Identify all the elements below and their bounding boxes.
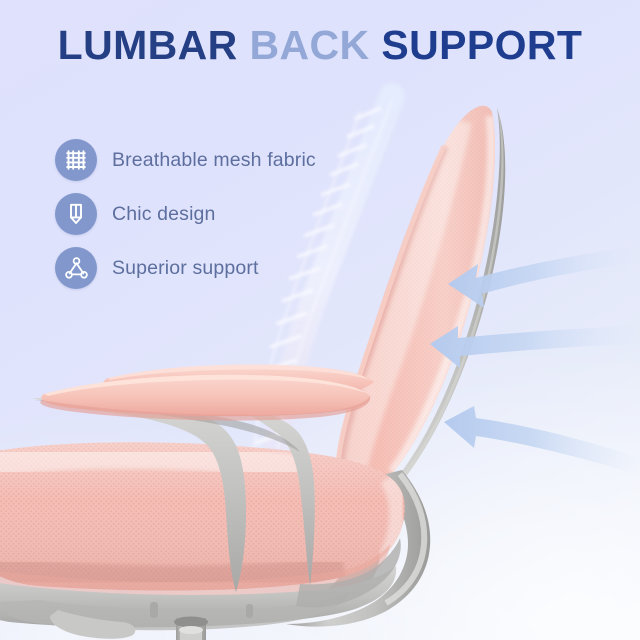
arrow-middle [430,326,640,368]
feature-label: Breathable mesh fabric [112,149,316,172]
feature-item-breathable-mesh-fabric: Breathable mesh fabric [55,133,355,187]
pressure-support-arrows [430,240,640,490]
title-segment-support: SUPPORT [381,22,582,68]
pencil-icon [55,193,97,235]
title-segment-back: BACK [250,22,370,68]
feature-item-superior-support: Superior support [55,241,355,295]
office-chair-illustration [0,0,640,640]
seat-cushion [0,430,430,610]
page-title: LUMBAR BACK SUPPORT [0,22,640,69]
title-segment-lumbar: LUMBAR [58,22,238,68]
backrest-frame [352,108,505,506]
seat-mechanism [0,538,401,639]
arrow-bottom [444,406,640,474]
backrest-support-post [246,470,430,627]
armrest-pad [40,365,374,421]
feature-item-chic-design: Chic design [55,187,355,241]
feature-list: Breathable mesh fabric Chic design [55,133,355,295]
product-feature-banner: LUMBAR BACK SUPPORT Breathable mesh fabr… [0,0,640,640]
mesh-grid-icon [55,139,97,181]
arrow-top [448,246,640,308]
background-sheen [0,0,640,640]
armrest-support [32,398,315,592]
triangle-nodes-icon [55,247,97,289]
feature-label: Superior support [112,257,259,280]
feature-label: Chic design [112,203,216,226]
gas-cylinder [174,617,208,640]
